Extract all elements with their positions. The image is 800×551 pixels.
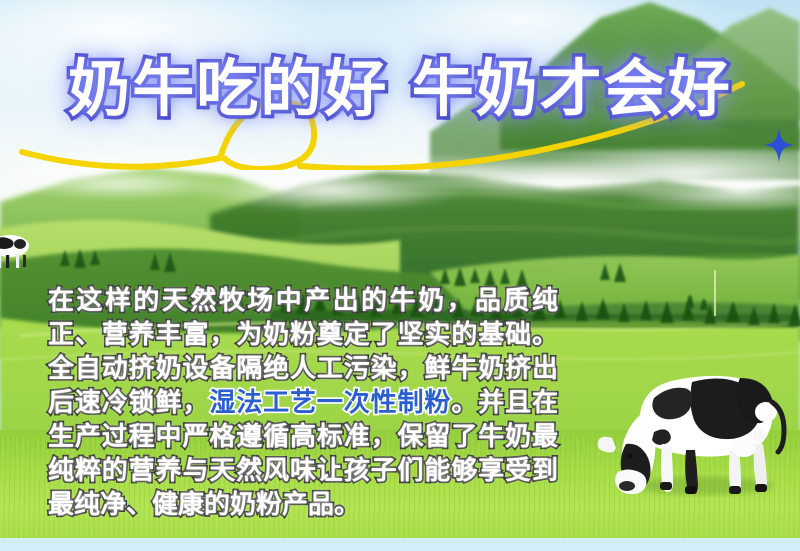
page-title: 奶牛吃的好 牛奶才会好: [68, 46, 732, 132]
dairy-promo-poster: 奶牛吃的好 牛奶才会好 在这样的天然牧场中产出的牛奶，品质纯正、营养丰富，为奶粉…: [0, 0, 800, 551]
body-copy-highlight: 湿法工艺一次性制粉: [209, 388, 451, 418]
headline-container: 奶牛吃的好 牛奶才会好: [0, 46, 800, 134]
body-copy: 在这样的天然牧场中产出的牛奶，品质纯正、营养丰富，为奶粉奠定了坚实的基础。全自动…: [48, 284, 558, 522]
distant-cow-illustration: [0, 224, 36, 280]
bottom-accent-strip: [0, 538, 800, 551]
grazing-cow-illustration: [596, 340, 792, 500]
